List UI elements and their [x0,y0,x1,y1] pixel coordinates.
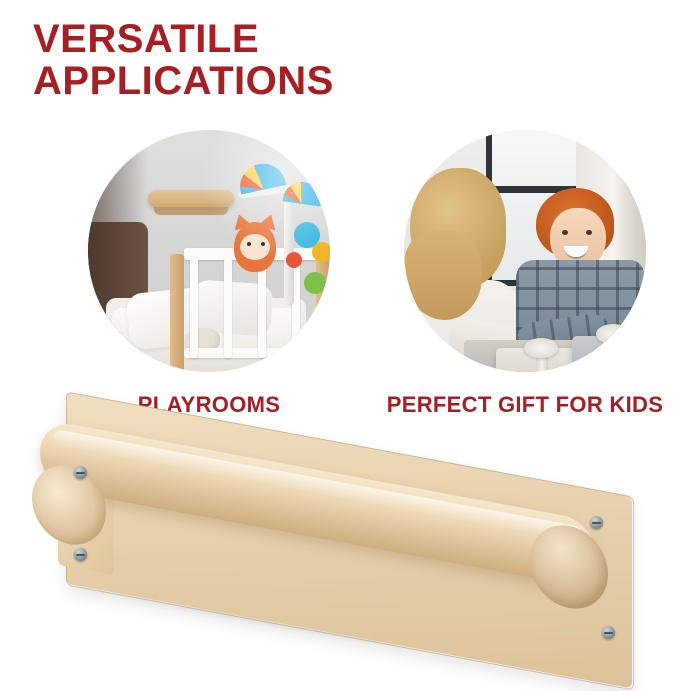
playroom-photo [88,130,330,372]
crib-slat [190,258,198,358]
gift-caption: PERFECT GIFT FOR KIDS [370,392,679,418]
crib-slat [258,258,266,358]
ball-toy-icon [304,272,326,294]
crib-wooden-post [316,248,330,372]
gift-box [572,336,646,372]
window-light-glow [200,130,330,260]
gift-photo-scene [404,130,646,372]
woman-hair-lower [404,230,482,320]
page-title-line-1: VERSATILE [33,17,259,61]
screw-icon [602,626,615,639]
screw-icon [74,548,87,561]
screw-icon [74,466,87,479]
screw-icon [590,516,603,529]
crib-lower-rail [184,348,330,358]
gift-ribbon-horizontal [572,366,646,372]
gift-photo [404,130,646,372]
playroom-photo-scene [88,130,330,372]
gift-bow [596,324,630,344]
page-title-line-2: APPLICATIONS [33,60,633,102]
boy-eye [562,230,568,235]
page-title: VERSATILE APPLICATIONS [33,18,633,103]
crib-slat [224,258,232,358]
gift-bow [524,338,558,358]
product-image [14,430,664,660]
boy-eye [586,230,592,235]
crib-wooden-post [170,254,184,372]
